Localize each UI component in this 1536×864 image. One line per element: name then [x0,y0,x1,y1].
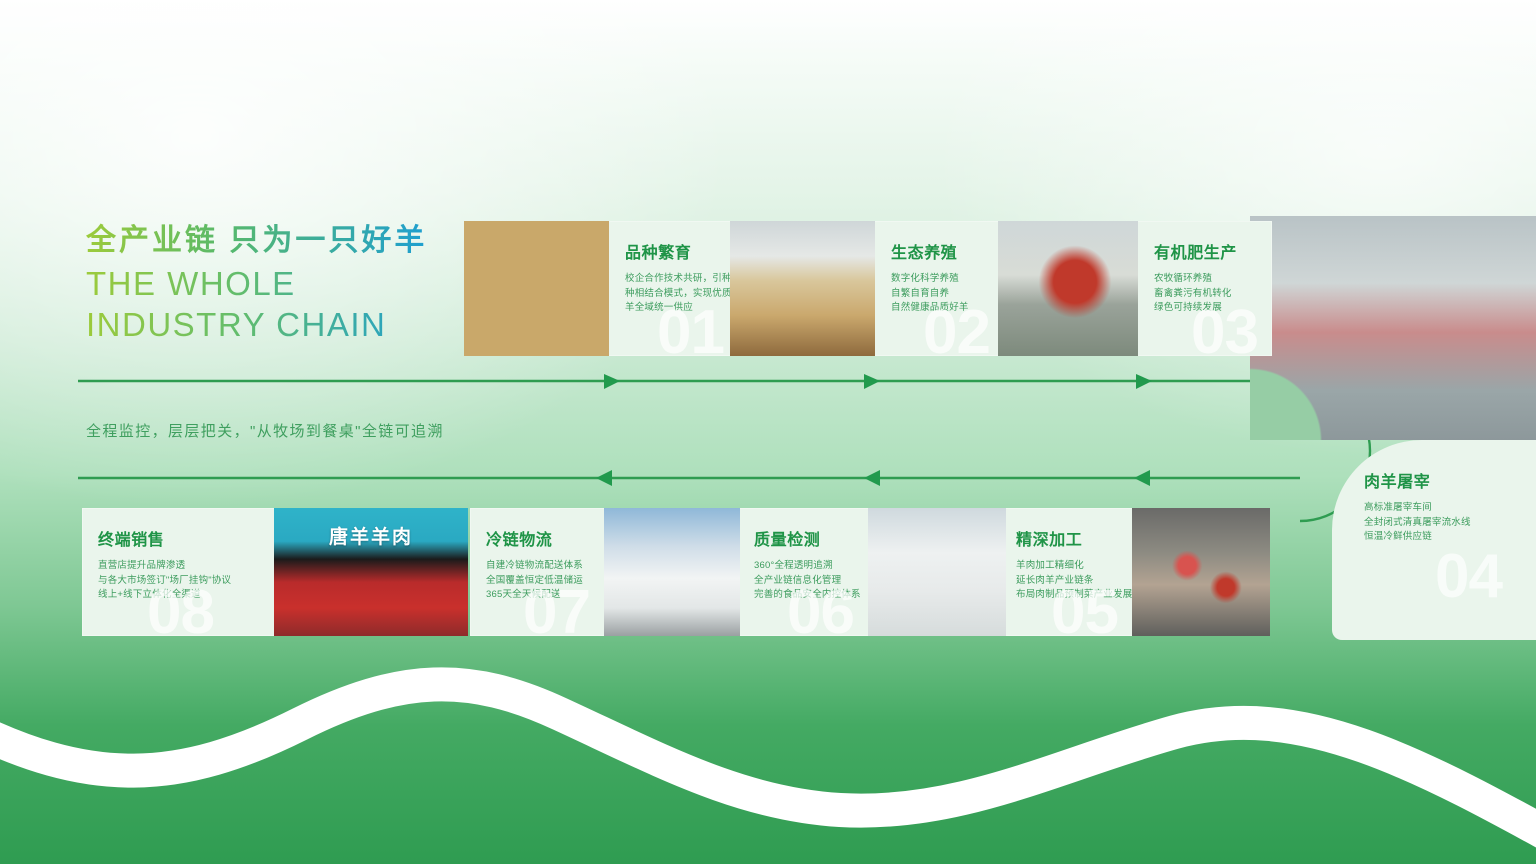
step-01-line-2: 种相结合模式，实现优质羔 [625,287,724,302]
cold-chain-truck-photo [604,508,740,636]
page-title: 全产业链 只为一只好羊 THE WHOLE INDUSTRY CHAIN [86,222,427,343]
step-08-line-1: 直营店提升品牌渗透 [98,559,260,574]
step-08-line-3: 线上+线下立体化全渠道 [98,588,260,603]
step-07-line-3: 365天全天候配送 [486,588,590,603]
step-01-line-1: 校企合作技术共研，引种育 [625,272,724,287]
step-03-line-2: 畜禽粪污有机转化 [1154,287,1258,302]
retail-store-photo: 唐羊羊肉 [274,508,468,636]
wave-ribbon-path [0,684,1536,850]
step-02-title: 生态养殖 [891,239,990,263]
step-07-line-2: 全国覆盖恒定低温储运 [486,574,590,589]
step-02-line-3: 自然健康品质好羊 [891,301,990,316]
processed-meat-product-photo [1132,508,1270,636]
step-card-01[interactable]: 品种繁育 校企合作技术共研，引种育 种相结合模式，实现优质羔 羊全域统一供应 0… [464,221,738,356]
step-01-text: 品种繁育 校企合作技术共研，引种育 种相结合模式，实现优质羔 羊全域统一供应 0… [609,221,738,356]
bottom-wave-decoration [0,614,1536,864]
step-04-title: 肉羊屠宰 [1364,468,1522,492]
step-02-line-1: 数字化科学养殖 [891,272,990,287]
step-card-06[interactable]: 质量检测 360°全程透明追溯 全产业链信息化管理 完善的食品安全内控体系 06 [738,508,1006,636]
step-06-text: 质量检测 360°全程透明追溯 全产业链信息化管理 完善的食品安全内控体系 06 [738,508,868,636]
step-05-text: 精深加工 羊肉加工精细化 延长肉羊产业链条 布局肉制品预制菜产业发展 05 [1000,508,1132,636]
step-04-number: 04 [1435,546,1502,608]
step-07-line-1: 自建冷链物流配送体系 [486,559,590,574]
tagline-text: 全程监控，层层把关，"从牧场到餐桌"全链可追溯 [86,420,444,441]
step-03-text: 有机肥生产 农牧循环养殖 畜禽粪污有机转化 绿色可持续发展 03 [1138,221,1272,356]
step-06-line-1: 360°全程透明追溯 [754,559,854,574]
step-03-line-1: 农牧循环养殖 [1154,272,1258,287]
step-01-line-3: 羊全域统一供应 [625,301,724,316]
step-card-07[interactable]: 冷链物流 自建冷链物流配送体系 全国覆盖恒定低温储运 365天全天候配送 07 [470,508,740,636]
step-01-title: 品种繁育 [625,239,724,263]
step-card-02[interactable]: 生态养殖 数字化科学养殖 自繁自育自养 自然健康品质好羊 02 [730,221,1004,356]
step-08-title: 终端销售 [98,526,260,550]
title-chinese: 全产业链 只为一只好羊 [86,222,427,260]
step-04-line-2: 全封闭式清真屠宰流水线 [1364,516,1522,531]
step-card-03[interactable]: 有机肥生产 农牧循环养殖 畜禽粪污有机转化 绿色可持续发展 03 [998,221,1272,356]
title-english-line1: THE WHOLE [86,266,427,302]
step-02-line-2: 自繁自育自养 [891,287,990,302]
step-card-04[interactable]: 肉羊屠宰 高标准屠宰车间 全封闭式清真屠宰流水线 恒温冷鲜供应链 04 [1348,450,1536,630]
fertilizer-machine-photo [998,221,1138,356]
step-04-photo-corner-mask [1250,216,1536,440]
lab-inspection-photo [868,508,1006,636]
store-sign-text: 唐羊羊肉 [329,522,413,549]
step-04-line-3: 恒温冷鲜供应链 [1364,530,1522,545]
step-03-title: 有机肥生产 [1154,239,1258,263]
step-02-text: 生态养殖 数字化科学养殖 自繁自育自养 自然健康品质好羊 02 [875,221,1004,356]
step-04-line-1: 高标准屠宰车间 [1364,501,1522,516]
sheep-barn-photo [730,221,875,356]
step-07-title: 冷链物流 [486,526,590,550]
step-05-title: 精深加工 [1016,526,1118,550]
step-06-line-3: 完善的食品安全内控体系 [754,588,854,603]
title-english-line2: INDUSTRY CHAIN [86,307,427,343]
step-05-line-2: 延长肉羊产业链条 [1016,574,1118,589]
lambs-in-pen-photo [464,221,609,356]
step-card-08[interactable]: 终端销售 直营店提升品牌渗透 与各大市场签订"场厂挂钩"协议 线上+线下立体化全… [82,508,468,636]
step-06-line-2: 全产业链信息化管理 [754,574,854,589]
step-05-line-3: 布局肉制品预制菜产业发展 [1016,588,1118,603]
step-08-text: 终端销售 直营店提升品牌渗透 与各大市场签订"场厂挂钩"协议 线上+线下立体化全… [82,508,274,636]
infographic-canvas: 全产业链 只为一只好羊 THE WHOLE INDUSTRY CHAIN 全程监… [0,0,1536,864]
step-03-line-3: 绿色可持续发展 [1154,301,1258,316]
step-08-line-2: 与各大市场签订"场厂挂钩"协议 [98,574,260,589]
step-07-text: 冷链物流 自建冷链物流配送体系 全国覆盖恒定低温储运 365天全天候配送 07 [470,508,604,636]
step-06-title: 质量检测 [754,526,854,550]
step-05-line-1: 羊肉加工精细化 [1016,559,1118,574]
step-card-05[interactable]: 精深加工 羊肉加工精细化 延长肉羊产业链条 布局肉制品预制菜产业发展 05 [1000,508,1270,636]
